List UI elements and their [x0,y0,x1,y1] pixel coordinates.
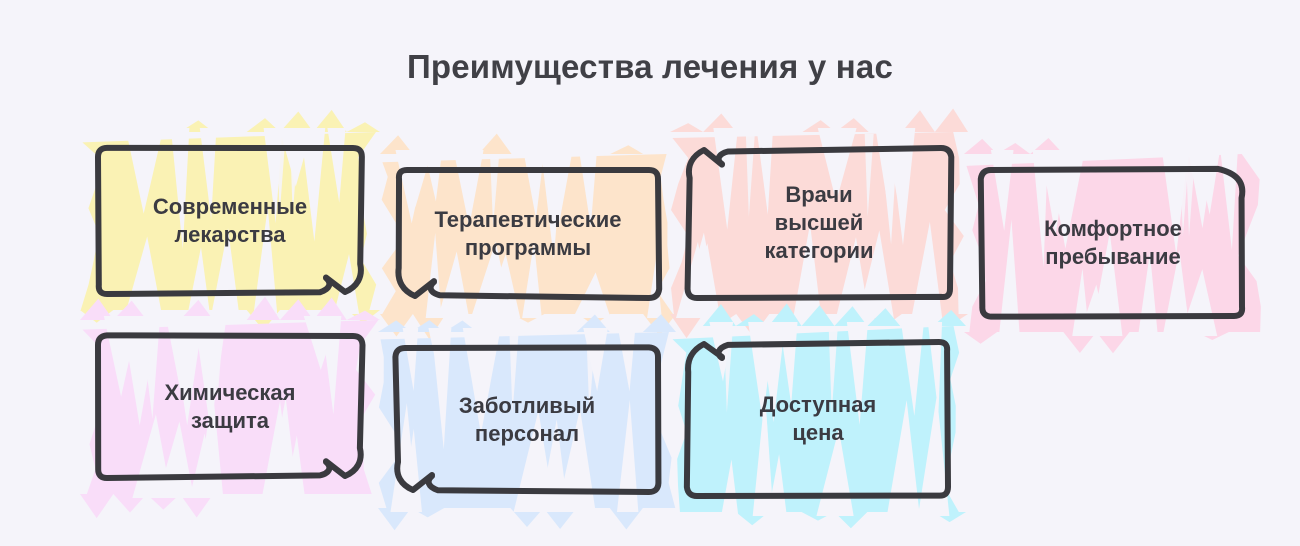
card-sketch-frame [394,346,660,494]
benefit-card-affordable-price[interactable]: Доступная цена [686,340,950,498]
highlighter-fill [670,108,968,338]
benefit-cards-grid: Современные лекарстваТерапевтические про… [0,0,1300,546]
card-sketch-frame [96,334,364,480]
card-sketch-frame [686,340,950,498]
benefit-card-modern-medicines[interactable]: Современные лекарства [96,146,364,296]
benefits-infographic: Преимущества лечения у нас Современные л… [0,0,1300,546]
highlighter-fill [380,134,676,340]
highlighter-fill [80,297,380,519]
highlighter-fill [80,110,380,330]
benefit-card-chemical-protection[interactable]: Химическая защита [96,334,364,480]
benefit-card-top-category-doctors[interactable]: Врачи высшей категории [686,146,952,300]
card-sketch-frame [396,168,660,300]
card-sketch-frame [686,146,952,300]
card-sketch-frame [96,146,364,296]
benefit-card-caring-staff[interactable]: Заботливый персонал [394,346,660,494]
benefit-card-therapy-programs[interactable]: Терапевтические программы [396,168,660,300]
benefit-card-comfortable-stay[interactable]: Комфортное пребывание [980,168,1246,318]
card-sketch-frame [980,168,1246,318]
